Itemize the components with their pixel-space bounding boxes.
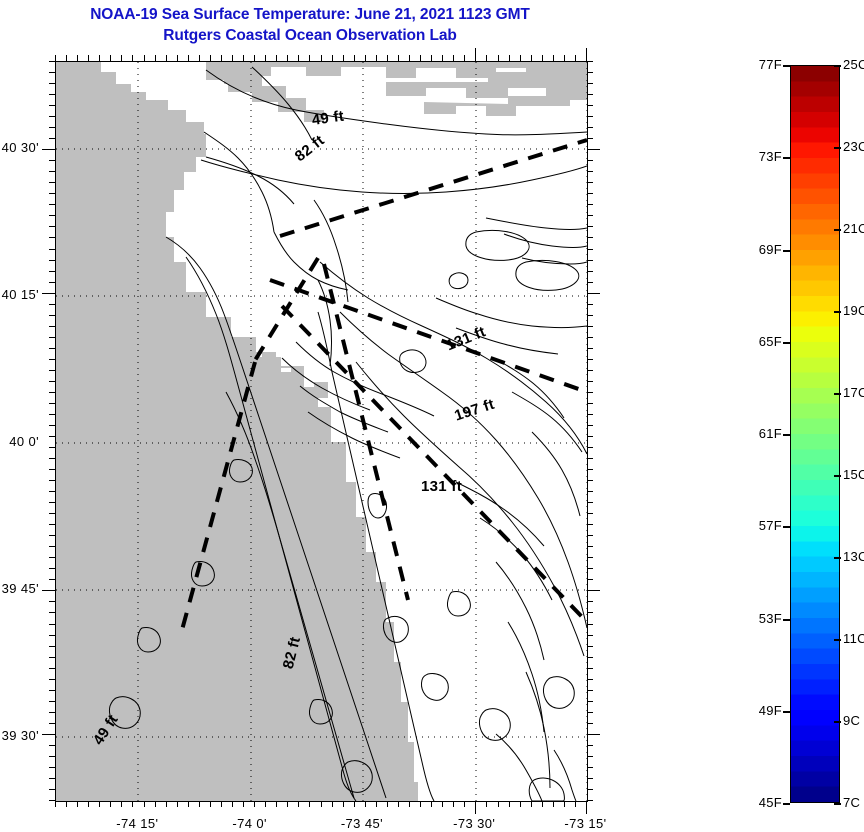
- axis-tick: [49, 690, 55, 691]
- axis-tick: [49, 381, 55, 382]
- axis-tick: [587, 127, 593, 128]
- axis-tick: [587, 171, 593, 172]
- axis-tick: [49, 502, 55, 503]
- axis-tick: [587, 160, 593, 161]
- axis-tick: [132, 55, 133, 61]
- x-axis-label: -73 15': [564, 816, 606, 831]
- colorbar-label-fahrenheit: 61F: [730, 426, 782, 441]
- colorbar-label-fahrenheit: 77F: [730, 57, 782, 72]
- axis-tick: [587, 458, 593, 459]
- colorbar-tick: [783, 65, 790, 67]
- axis-tick: [66, 801, 67, 807]
- axis-tick: [398, 55, 399, 61]
- axis-tick: [49, 182, 55, 183]
- colorbar-tick: [783, 434, 790, 436]
- axis-tick: [49, 414, 55, 415]
- axis-tick: [575, 55, 576, 61]
- axis-tick: [49, 204, 55, 205]
- axis-tick: [49, 524, 55, 525]
- axis-tick: [587, 149, 600, 150]
- axis-tick: [587, 105, 593, 106]
- axis-tick: [254, 55, 255, 61]
- axis-tick: [587, 116, 593, 117]
- y-axis-label: 40 0': [0, 434, 39, 449]
- axis-tick: [210, 55, 211, 61]
- axis-tick: [531, 55, 532, 61]
- axis-tick: [587, 392, 593, 393]
- axis-tick: [387, 55, 388, 61]
- colorbar-tick: [783, 342, 790, 344]
- axis-tick: [587, 579, 593, 580]
- x-axis-label: -73 45': [341, 816, 383, 831]
- axis-tick: [49, 403, 55, 404]
- axis-tick: [99, 801, 100, 807]
- axis-tick: [55, 801, 56, 807]
- axis-tick: [587, 447, 593, 448]
- axis-tick: [287, 801, 288, 807]
- axis-tick: [564, 55, 565, 61]
- axis-tick: [110, 55, 111, 61]
- axis-tick: [431, 55, 432, 61]
- axis-tick: [49, 568, 55, 569]
- axis-tick: [49, 491, 55, 492]
- axis-tick: [49, 127, 55, 128]
- axis-tick: [531, 801, 532, 807]
- axis-tick: [49, 458, 55, 459]
- axis-tick: [49, 282, 55, 283]
- axis-tick: [132, 801, 133, 807]
- axis-tick: [121, 55, 122, 61]
- axis-tick: [49, 767, 55, 768]
- axis-tick: [49, 513, 55, 514]
- colorbar-tick: [783, 619, 790, 621]
- axis-tick: [587, 712, 593, 713]
- axis-tick: [309, 801, 310, 807]
- axis-tick: [49, 359, 55, 360]
- axis-tick: [332, 55, 333, 61]
- colorbar-tick: [783, 803, 790, 805]
- axis-tick: [144, 801, 145, 807]
- axis-tick: [49, 480, 55, 481]
- axis-tick: [49, 712, 55, 713]
- axis-tick: [420, 55, 421, 61]
- axis-tick: [464, 55, 465, 61]
- axis-tick: [42, 149, 55, 150]
- axis-tick: [587, 293, 600, 294]
- axis-tick: [464, 801, 465, 807]
- axis-tick: [587, 337, 593, 338]
- colorbar-label-celsius: 13C: [843, 549, 864, 564]
- axis-tick: [66, 55, 67, 61]
- axis-tick: [587, 657, 593, 658]
- y-axis-label: 39 30': [0, 728, 39, 743]
- axis-tick: [99, 55, 100, 61]
- axis-tick: [49, 612, 55, 613]
- axis-tick: [354, 55, 355, 61]
- axis-tick: [42, 590, 55, 591]
- colorbar-tick: [834, 393, 841, 395]
- axis-tick: [553, 801, 554, 807]
- axis-tick: [298, 801, 299, 807]
- axis-tick: [376, 55, 377, 61]
- axis-tick: [49, 249, 55, 250]
- title-line-2: Rutgers Coastal Ocean Observation Lab: [0, 25, 620, 46]
- axis-tick: [587, 83, 593, 84]
- axis-tick: [409, 55, 410, 61]
- sst-map-plot[interactable]: [55, 61, 588, 802]
- axis-tick: [587, 491, 593, 492]
- colorbar-label-fahrenheit: 53F: [730, 611, 782, 626]
- y-axis-label: 39 45': [0, 581, 39, 596]
- axis-tick: [587, 425, 593, 426]
- axis-tick: [49, 646, 55, 647]
- axis-tick: [49, 337, 55, 338]
- y-axis-label: 40 15': [0, 287, 39, 302]
- colorbar-label-fahrenheit: 69F: [730, 242, 782, 257]
- axis-tick: [188, 55, 189, 61]
- axis-tick: [321, 55, 322, 61]
- axis-tick: [442, 801, 443, 807]
- axis-tick: [587, 502, 593, 503]
- y-axis-ticks-right: [587, 61, 600, 802]
- axis-tick: [587, 348, 593, 349]
- axis-tick: [49, 326, 55, 327]
- axis-tick: [587, 304, 593, 305]
- axis-tick: [587, 723, 593, 724]
- axis-tick: [564, 801, 565, 807]
- axis-tick: [144, 55, 145, 61]
- axis-tick: [587, 381, 593, 382]
- colorbar-tick: [783, 157, 790, 159]
- axis-tick: [587, 436, 593, 437]
- axis-tick: [587, 557, 593, 558]
- axis-tick: [587, 734, 600, 735]
- axis-tick: [586, 801, 587, 814]
- axis-tick: [177, 55, 178, 61]
- axis-tick: [49, 447, 55, 448]
- axis-tick: [49, 745, 55, 746]
- axis-tick: [49, 72, 55, 73]
- axis-tick: [49, 756, 55, 757]
- axis-tick: [49, 425, 55, 426]
- axis-tick: [475, 48, 476, 61]
- axis-tick: [49, 94, 55, 95]
- depth-contour-label: 131 ft: [421, 478, 462, 495]
- axis-tick: [343, 801, 344, 807]
- axis-tick: [49, 138, 55, 139]
- colorbar-tick: [834, 639, 841, 641]
- axis-tick: [49, 778, 55, 779]
- axis-tick: [265, 55, 266, 61]
- axis-tick: [431, 801, 432, 807]
- axis-tick: [332, 801, 333, 807]
- axis-tick: [587, 469, 593, 470]
- axis-tick: [276, 801, 277, 807]
- x-axis-ticks: [55, 801, 588, 814]
- axis-tick: [177, 801, 178, 807]
- y-axis-label: 40 30': [0, 140, 39, 155]
- colorbar-label-celsius: 19C: [843, 303, 864, 318]
- axis-tick: [587, 767, 593, 768]
- axis-tick: [49, 635, 55, 636]
- axis-tick: [587, 359, 593, 360]
- axis-tick: [49, 535, 55, 536]
- axis-tick: [166, 55, 167, 61]
- axis-tick: [387, 801, 388, 807]
- map-vector-layer: [56, 62, 587, 801]
- axis-tick: [298, 55, 299, 61]
- axis-tick: [587, 480, 593, 481]
- axis-tick: [49, 116, 55, 117]
- axis-tick: [587, 94, 593, 95]
- axis-tick: [486, 801, 487, 807]
- axis-tick: [587, 624, 593, 625]
- colorbar-tick: [834, 147, 841, 149]
- colorbar-tick: [834, 557, 841, 559]
- axis-tick: [587, 414, 593, 415]
- x-axis-ticks-top: [55, 48, 588, 61]
- axis-tick: [587, 215, 593, 216]
- axis-tick: [409, 801, 410, 807]
- axis-tick: [49, 171, 55, 172]
- axis-tick: [110, 801, 111, 807]
- axis-tick: [587, 701, 593, 702]
- axis-tick: [587, 271, 593, 272]
- axis-tick: [49, 61, 55, 62]
- axis-tick: [49, 392, 55, 393]
- axis-tick: [587, 800, 593, 801]
- axis-tick: [376, 801, 377, 807]
- colorbar-tick: [783, 526, 790, 528]
- axis-tick: [199, 55, 200, 61]
- axis-tick: [243, 801, 244, 807]
- axis-tick: [420, 801, 421, 807]
- colorbar[interactable]: [790, 65, 840, 803]
- axis-tick: [486, 55, 487, 61]
- axis-tick: [442, 55, 443, 61]
- colorbar-tick: [783, 711, 790, 713]
- colorbar-tick: [834, 229, 841, 231]
- axis-tick: [49, 557, 55, 558]
- axis-tick: [542, 801, 543, 807]
- axis-tick: [587, 315, 593, 316]
- axis-tick: [587, 193, 593, 194]
- axis-tick: [243, 55, 244, 61]
- axis-tick: [587, 403, 593, 404]
- axis-tick: [587, 524, 593, 525]
- colorbar-label-fahrenheit: 65F: [730, 334, 782, 349]
- axis-tick: [587, 237, 593, 238]
- axis-tick: [453, 801, 454, 807]
- colorbar-label-celsius: 23C: [843, 139, 864, 154]
- colorbar-label-celsius: 17C: [843, 385, 864, 400]
- axis-tick: [49, 546, 55, 547]
- axis-tick: [221, 801, 222, 807]
- colorbar-label-celsius: 11C: [843, 631, 864, 646]
- axis-tick: [254, 801, 255, 807]
- axis-tick: [49, 315, 55, 316]
- title-line-1: NOAA-19 Sea Surface Temperature: June 21…: [0, 4, 620, 25]
- axis-tick: [365, 55, 366, 61]
- axis-tick: [49, 469, 55, 470]
- axis-tick: [365, 801, 366, 807]
- axis-tick: [155, 55, 156, 61]
- axis-tick: [199, 801, 200, 807]
- axis-tick: [587, 679, 593, 680]
- axis-tick: [587, 646, 593, 647]
- axis-tick: [587, 756, 593, 757]
- colorbar-label-fahrenheit: 49F: [730, 703, 782, 718]
- axis-tick: [42, 734, 55, 735]
- axis-tick: [587, 601, 593, 602]
- colorbar-tick: [834, 311, 841, 313]
- axis-tick: [49, 105, 55, 106]
- axis-tick: [509, 801, 510, 807]
- axis-tick: [49, 83, 55, 84]
- axis-tick: [587, 72, 593, 73]
- axis-tick: [587, 249, 593, 250]
- colorbar-gradient: [791, 66, 839, 802]
- axis-tick: [42, 293, 55, 294]
- axis-tick: [49, 215, 55, 216]
- axis-tick: [77, 55, 78, 61]
- axis-tick: [321, 801, 322, 807]
- axis-tick: [276, 55, 277, 61]
- axis-tick: [587, 635, 593, 636]
- colorbar-label-celsius: 25C: [843, 57, 864, 72]
- axis-tick: [121, 801, 122, 807]
- axis-tick: [587, 568, 593, 569]
- axis-tick: [587, 546, 593, 547]
- axis-tick: [343, 55, 344, 61]
- axis-tick: [55, 55, 56, 61]
- axis-tick: [88, 801, 89, 807]
- axis-tick: [587, 326, 593, 327]
- axis-tick: [49, 348, 55, 349]
- axis-tick: [587, 668, 593, 669]
- axis-tick: [398, 801, 399, 807]
- axis-tick: [49, 579, 55, 580]
- x-axis-label: -73 30': [453, 816, 495, 831]
- colorbar-tick: [834, 65, 841, 67]
- axis-tick: [587, 789, 593, 790]
- axis-tick: [587, 138, 593, 139]
- axis-tick: [587, 745, 593, 746]
- colorbar-label-celsius: 9C: [843, 713, 860, 728]
- axis-tick: [587, 513, 593, 514]
- axis-tick: [49, 723, 55, 724]
- axis-tick: [587, 370, 593, 371]
- colorbar-tick: [834, 721, 841, 723]
- axis-tick: [520, 55, 521, 61]
- axis-tick: [265, 801, 266, 807]
- axis-tick: [587, 612, 593, 613]
- axis-tick: [49, 436, 55, 437]
- axis-tick: [542, 55, 543, 61]
- colorbar-tick: [834, 803, 841, 805]
- x-axis-label: -74 15': [116, 816, 158, 831]
- axis-tick: [49, 226, 55, 227]
- axis-tick: [88, 55, 89, 61]
- axis-tick: [354, 801, 355, 807]
- colorbar-tick: [783, 250, 790, 252]
- axis-tick: [586, 48, 587, 61]
- axis-tick: [498, 801, 499, 807]
- colorbar-label-fahrenheit: 57F: [730, 518, 782, 533]
- axis-tick: [49, 789, 55, 790]
- axis-tick: [49, 800, 55, 801]
- axis-tick: [188, 801, 189, 807]
- axis-tick: [575, 801, 576, 807]
- axis-tick: [49, 701, 55, 702]
- axis-tick: [587, 282, 593, 283]
- axis-tick: [210, 801, 211, 807]
- axis-tick: [453, 55, 454, 61]
- axis-tick: [166, 801, 167, 807]
- axis-tick: [49, 679, 55, 680]
- axis-tick: [49, 160, 55, 161]
- axis-tick: [587, 226, 593, 227]
- axis-tick: [232, 801, 233, 807]
- axis-tick: [587, 61, 593, 62]
- axis-tick: [587, 590, 600, 591]
- axis-tick: [309, 55, 310, 61]
- axis-tick: [587, 204, 593, 205]
- axis-tick: [49, 624, 55, 625]
- axis-tick: [232, 55, 233, 61]
- axis-tick: [49, 668, 55, 669]
- axis-tick: [475, 801, 476, 814]
- colorbar-label-fahrenheit: 45F: [730, 795, 782, 810]
- page-title: NOAA-19 Sea Surface Temperature: June 21…: [0, 4, 620, 46]
- axis-tick: [587, 535, 593, 536]
- axis-tick: [49, 370, 55, 371]
- axis-tick: [49, 271, 55, 272]
- colorbar-label-celsius: 15C: [843, 467, 864, 482]
- axis-tick: [49, 601, 55, 602]
- colorbar-label-celsius: 7C: [843, 795, 860, 810]
- axis-tick: [49, 304, 55, 305]
- axis-tick: [155, 801, 156, 807]
- axis-tick: [509, 55, 510, 61]
- colorbar-tick: [834, 475, 841, 477]
- x-axis-label: -74 0': [232, 816, 267, 831]
- axis-tick: [553, 55, 554, 61]
- axis-tick: [498, 55, 499, 61]
- colorbar-label-fahrenheit: 73F: [730, 149, 782, 164]
- axis-tick: [520, 801, 521, 807]
- axis-tick: [49, 193, 55, 194]
- axis-tick: [587, 778, 593, 779]
- axis-tick: [77, 801, 78, 807]
- axis-tick: [49, 260, 55, 261]
- axis-tick: [587, 690, 593, 691]
- axis-tick: [587, 182, 593, 183]
- y-axis-ticks: [42, 61, 55, 802]
- colorbar-label-celsius: 21C: [843, 221, 864, 236]
- axis-tick: [49, 657, 55, 658]
- axis-tick: [287, 55, 288, 61]
- axis-tick: [587, 260, 593, 261]
- axis-tick: [49, 237, 55, 238]
- axis-tick: [221, 55, 222, 61]
